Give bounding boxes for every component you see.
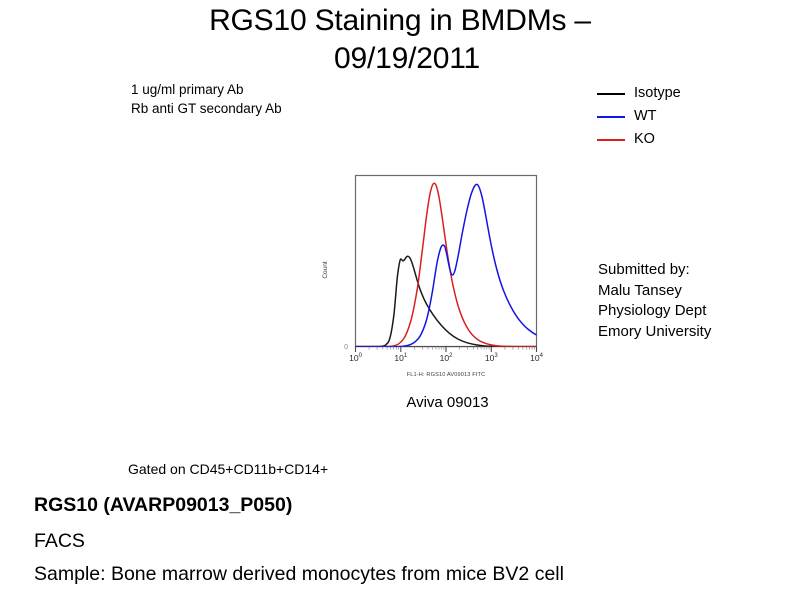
legend-label-isotype: Isotype	[634, 86, 681, 101]
y-axis-label: Count	[322, 261, 329, 279]
antibody-note: 1 ug/ml primary Ab Rb anti GT secondary …	[131, 80, 282, 118]
svg-text:102: 102	[440, 353, 453, 363]
assay-name: FACS	[34, 530, 85, 553]
submitted-by-department: Physiology Dept	[598, 301, 711, 322]
x-axis-tick-labels: 100 101 102 103 104	[349, 353, 543, 363]
legend-label-wt: WT	[634, 109, 657, 124]
figure-title-line-1: RGS10 Staining in BMDMs –	[0, 2, 800, 40]
svg-text:100: 100	[349, 353, 362, 363]
gating-note: Gated on CD45+CD11b+CD14+	[128, 461, 328, 477]
svg-text:104: 104	[530, 353, 543, 363]
plot-caption: Aviva 09013	[355, 394, 540, 411]
svg-text:103: 103	[485, 353, 498, 363]
legend-item-isotype: Isotype	[597, 82, 681, 105]
flow-cytometry-histogram: Count 0	[300, 168, 550, 393]
submitted-by-block: Submitted by: Malu Tansey Physiology Dep…	[598, 260, 711, 342]
sample-description: Sample: Bone marrow derived monocytes fr…	[34, 563, 564, 586]
legend-label-ko: KO	[634, 132, 655, 147]
chart-legend: Isotype WT KO	[597, 82, 681, 151]
target-name: RGS10 (AVARP09013_P050)	[34, 494, 292, 517]
submitted-by-person: Malu Tansey	[598, 281, 711, 302]
legend-swatch-isotype	[597, 93, 625, 95]
figure-title: RGS10 Staining in BMDMs – 09/19/2011	[0, 2, 800, 78]
legend-item-wt: WT	[597, 105, 681, 128]
figure-title-line-2: 09/19/2011	[0, 40, 800, 78]
svg-text:101: 101	[394, 353, 407, 363]
antibody-note-primary: 1 ug/ml primary Ab	[131, 80, 282, 99]
legend-swatch-ko	[597, 139, 625, 141]
antibody-note-secondary: Rb anti GT secondary Ab	[131, 99, 282, 118]
y-origin-tick-label: 0	[344, 344, 348, 351]
submitted-by-heading: Submitted by:	[598, 260, 711, 281]
plot-frame	[356, 176, 537, 347]
x-axis-label: FL1-H: RGS10 AV09013 FITC	[407, 372, 486, 378]
submitted-by-institution: Emory University	[598, 322, 711, 343]
legend-swatch-wt	[597, 116, 625, 118]
legend-item-ko: KO	[597, 128, 681, 151]
